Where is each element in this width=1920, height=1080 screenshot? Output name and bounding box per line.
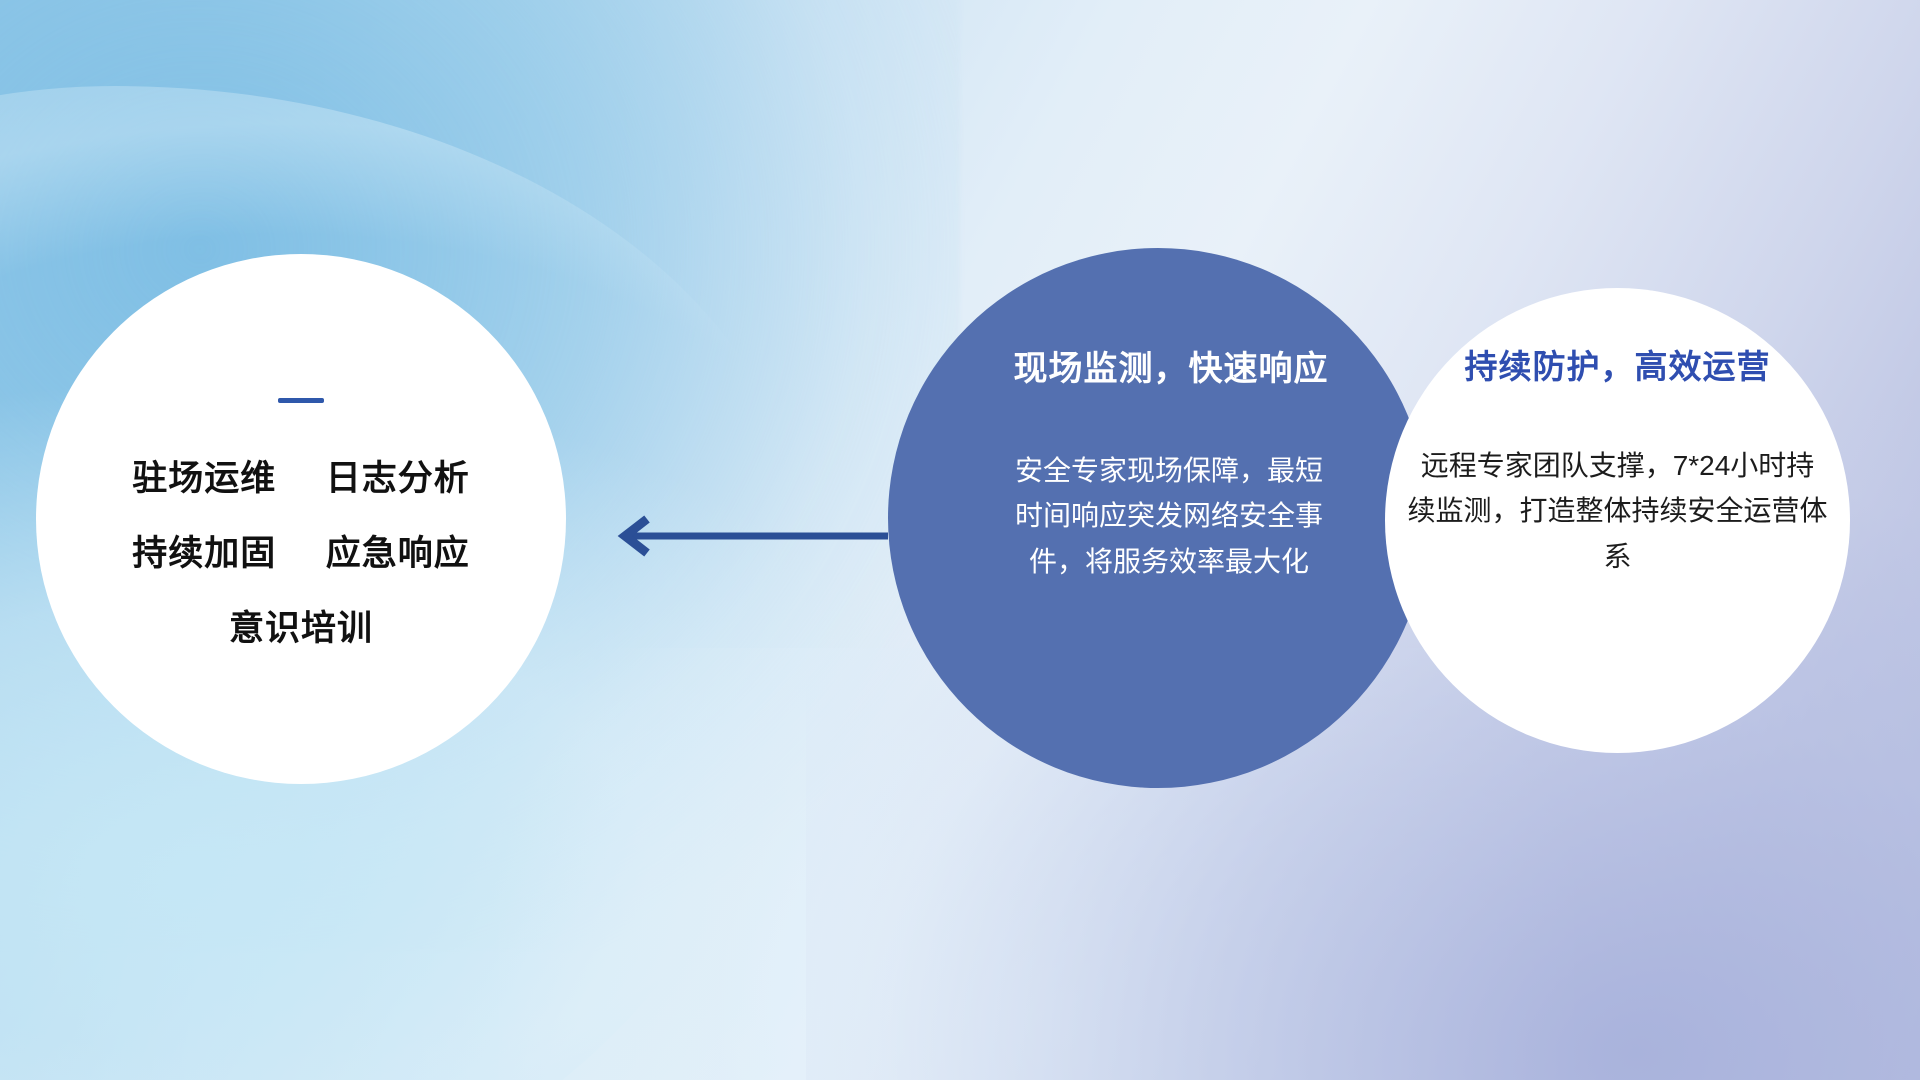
capability-row: 持续加固 应急响应 bbox=[132, 536, 470, 571]
continuous-protection-heading: 持续防护，高效运营 bbox=[1465, 350, 1771, 383]
section-divider bbox=[278, 398, 324, 403]
onsite-monitoring-heading: 现场监测，快速响应 bbox=[1014, 352, 1329, 386]
capability-item: 意识培训 bbox=[229, 609, 373, 648]
capabilities-content: 驻场运维 日志分析 持续加固 应急响应 意识培训 bbox=[36, 254, 566, 784]
capability-item: 持续加固 bbox=[132, 534, 276, 573]
onsite-monitoring-body: 安全专家现场保障，最短时间响应突发网络安全事件，将服务效率最大化 bbox=[1004, 448, 1334, 584]
continuous-protection-body: 远程专家团队支撑，7*24小时持续监测，打造整体持续安全运营体系 bbox=[1408, 443, 1828, 579]
capability-item: 驻场运维 bbox=[132, 459, 276, 498]
left-arrow-icon bbox=[600, 510, 890, 562]
capability-row: 驻场运维 日志分析 bbox=[132, 461, 470, 496]
capability-item: 日志分析 bbox=[326, 459, 470, 498]
continuous-protection-content: 持续防护，高效运营 远程专家团队支撑，7*24小时持续监测，打造整体持续安全运营… bbox=[1385, 288, 1850, 753]
slide-canvas: 驻场运维 日志分析 持续加固 应急响应 意识培训 现场监测，快速响应 安全专家现… bbox=[0, 0, 1920, 1080]
capability-row: 意识培训 bbox=[229, 611, 373, 646]
capability-item: 应急响应 bbox=[326, 534, 470, 573]
onsite-monitoring-content: 现场监测，快速响应 安全专家现场保障，最短时间响应突发网络安全事件，将服务效率最… bbox=[888, 248, 1428, 788]
